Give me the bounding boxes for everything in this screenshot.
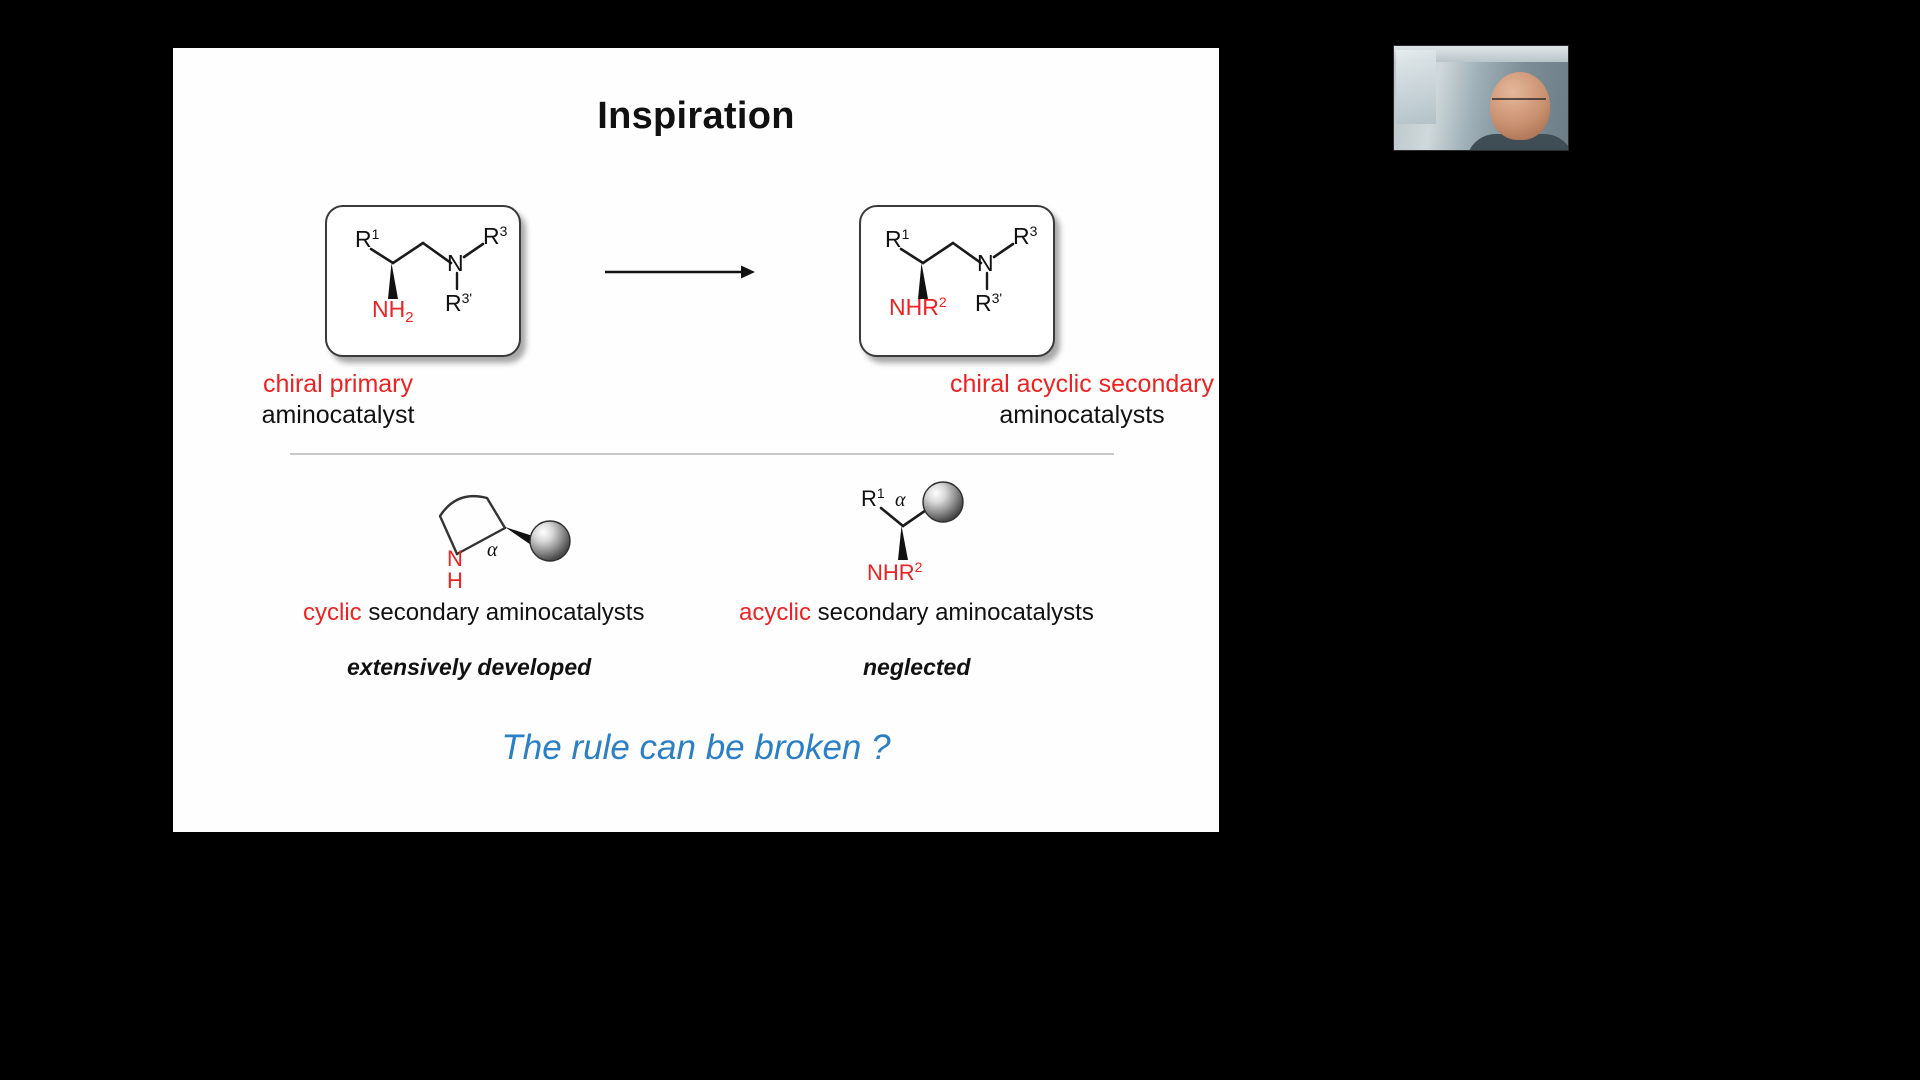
molecule-box-acyclic-secondary-aminocatalyst: R1 N R3 R3' NHR2 bbox=[859, 205, 1055, 357]
stereo-wedge bbox=[898, 526, 908, 560]
right-arrow-icon bbox=[605, 260, 755, 284]
label-n: N bbox=[977, 250, 994, 276]
section-divider bbox=[290, 453, 1114, 455]
caption-cyclic: cyclic secondary aminocatalysts bbox=[303, 599, 644, 627]
molecule-box-primary-aminocatalyst: R1 N R3 R3' NH2 bbox=[325, 205, 521, 357]
slide-canvas: Inspiration R1 N R3 R3' bbox=[173, 48, 1219, 832]
closing-question: The rule can be broken ? bbox=[173, 728, 1219, 768]
label-alpha: α bbox=[487, 539, 498, 561]
structure-cyclic-aminocatalyst: N H α bbox=[395, 480, 575, 595]
caption-right-red: chiral acyclic secondary bbox=[917, 369, 1247, 400]
stereo-wedge bbox=[388, 263, 398, 299]
presenter-video-thumbnail[interactable] bbox=[1393, 45, 1569, 151]
caption-acyclic: acyclic secondary aminocatalysts bbox=[739, 599, 1094, 627]
caption-right-black: aminocatalysts bbox=[917, 400, 1247, 431]
label-r3-prime: R3' bbox=[445, 290, 472, 316]
label-r1: R1 bbox=[355, 226, 380, 252]
caption-cyclic-rest: secondary aminocatalysts bbox=[362, 599, 645, 626]
substituent-sphere bbox=[530, 521, 570, 561]
reaction-arrow bbox=[605, 260, 755, 284]
structure-acyclic-secondary-aminocatalyst: R1 N R3 R3' NHR2 bbox=[861, 207, 1053, 355]
label-r1: R1 bbox=[885, 226, 910, 252]
label-r3: R3 bbox=[1013, 223, 1038, 249]
caption-acyclic-highlight: acyclic bbox=[739, 599, 811, 626]
label-r3: R3 bbox=[483, 223, 508, 249]
emphasis-cyclic: extensively developed bbox=[347, 654, 591, 681]
emphasis-acyclic: neglected bbox=[863, 654, 970, 681]
structure-acyclic-aminocatalyst: R1 α NHR2 bbox=[845, 480, 1025, 595]
caption-right: chiral acyclic secondary aminocatalysts bbox=[917, 369, 1247, 431]
label-alpha: α bbox=[895, 489, 906, 511]
label-nhr2: NHR2 bbox=[867, 559, 923, 585]
caption-left-black: aminocatalyst bbox=[173, 400, 503, 431]
caption-acyclic-rest: secondary aminocatalysts bbox=[811, 599, 1094, 626]
page-title: Inspiration bbox=[173, 95, 1219, 138]
label-h: H bbox=[447, 568, 463, 593]
structure-primary-aminocatalyst: R1 N R3 R3' NH2 bbox=[327, 207, 519, 355]
label-nhr2: NHR2 bbox=[889, 294, 947, 320]
substituent-sphere bbox=[923, 482, 963, 522]
video-window bbox=[1396, 50, 1436, 124]
screen: Inspiration R1 N R3 R3' bbox=[0, 0, 1920, 1080]
caption-left-red: chiral primary bbox=[173, 369, 503, 400]
label-n: N bbox=[447, 250, 464, 276]
caption-left: chiral primary aminocatalyst bbox=[173, 369, 503, 431]
label-r3-prime: R3' bbox=[975, 290, 1002, 316]
presenter-glasses bbox=[1492, 98, 1546, 110]
label-nh2: NH2 bbox=[372, 296, 414, 326]
caption-cyclic-highlight: cyclic bbox=[303, 599, 362, 626]
